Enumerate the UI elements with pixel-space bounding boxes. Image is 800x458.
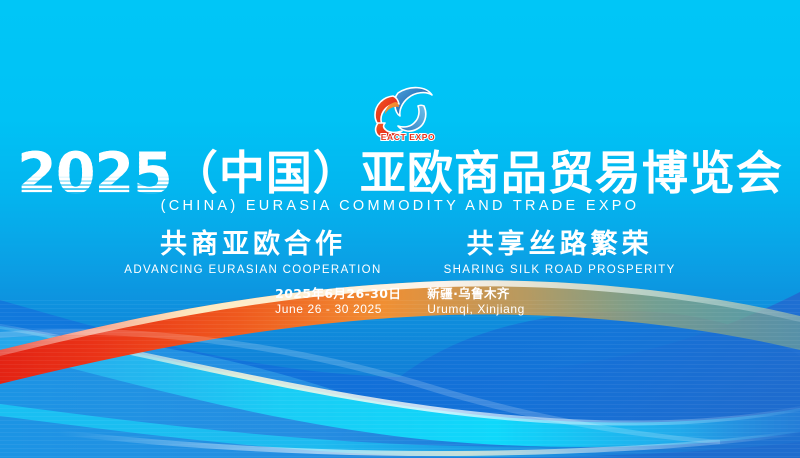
slogan-group: 共商亚欧合作 ADVANCING EURASIAN COOPERATION 共享… — [0, 230, 800, 276]
event-location-english: Urumqi, Xinjiang — [427, 302, 525, 318]
eact-expo-emblem-icon: EACT EXPO — [352, 82, 448, 144]
background-wave-artwork — [0, 0, 800, 458]
logo-wordmark: EACT EXPO — [381, 132, 436, 142]
wave-cyan-swoosh — [0, 326, 800, 447]
event-date: 2025年6月26-30日 June 26 - 30 2025 — [275, 286, 401, 317]
slogan-left-english: ADVANCING EURASIAN COOPERATION — [124, 264, 381, 276]
event-location: 新疆·乌鲁木齐 Urumqi, Xinjiang — [427, 286, 525, 317]
slogan-right-english: SHARING SILK ROAD PROSPERITY — [444, 264, 676, 276]
logo-blue-lower-crescent — [398, 105, 426, 131]
slogan-right-chinese: 共享丝路繁荣 — [444, 230, 676, 260]
wave-soft-cyan-band — [0, 337, 640, 458]
expo-poster: EACT EXPO 2025（中国）亚欧商品贸易博览会 (CHINA) EURA… — [0, 0, 800, 458]
slogan-left-chinese: 共商亚欧合作 — [124, 230, 381, 260]
main-title: 2025（中国）亚欧商品贸易博览会 — [0, 146, 800, 203]
texture-hatch — [0, 300, 800, 458]
event-info: 2025年6月26-30日 June 26 - 30 2025 新疆·乌鲁木齐 … — [0, 286, 800, 317]
event-date-chinese: 2025年6月26-30日 — [275, 286, 401, 302]
title-chinese: （中国）亚欧商品贸易博览会 — [172, 150, 783, 196]
title-year: 2025 — [17, 146, 172, 203]
slogan-right: 共享丝路繁荣 SHARING SILK ROAD PROSPERITY — [444, 230, 676, 276]
wave-deep-blue-right — [330, 311, 800, 458]
wave-highlight-line — [0, 324, 800, 426]
title-english: (CHINA) EURASIA COMMODITY AND TRADE EXPO — [0, 198, 800, 214]
light-streak-upper-left — [0, 329, 720, 444]
wave-bottom-glow-line — [58, 430, 800, 456]
wave-cyan-swoosh-secondary — [0, 404, 800, 457]
logo: EACT EXPO — [0, 82, 800, 144]
event-date-english: June 26 - 30 2025 — [275, 302, 401, 318]
event-location-chinese: 新疆·乌鲁木齐 — [427, 286, 525, 302]
slogan-left: 共商亚欧合作 ADVANCING EURASIAN COOPERATION — [124, 230, 381, 276]
